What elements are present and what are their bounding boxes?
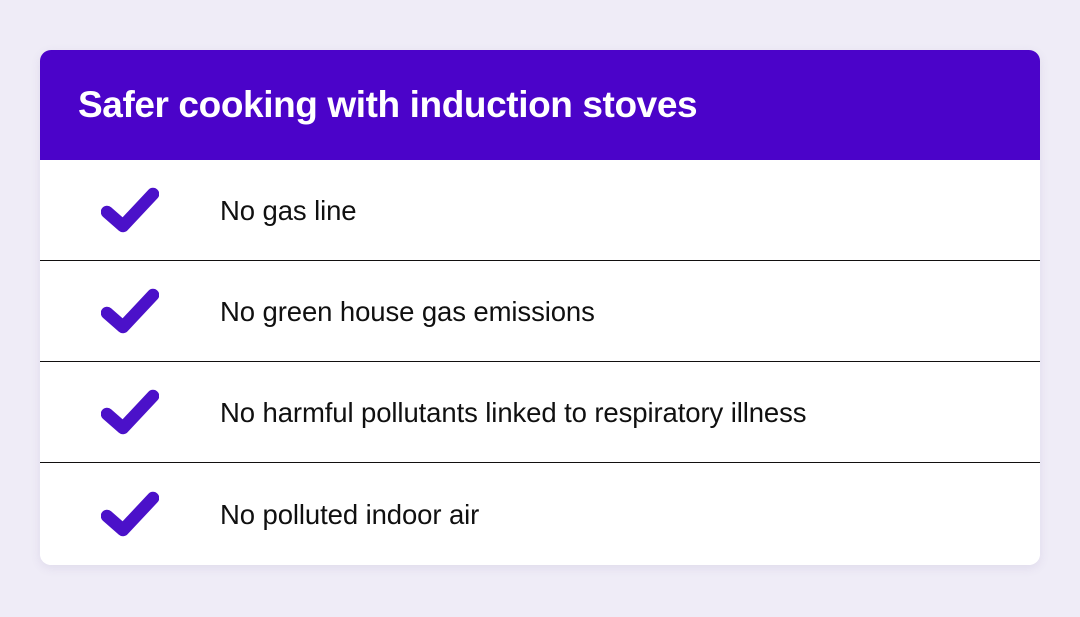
list-item-label: No gas line	[220, 194, 356, 227]
check-icon	[101, 187, 159, 233]
list-item-label: No harmful pollutants linked to respirat…	[220, 396, 806, 429]
page-root: Safer cooking with induction stoves No g…	[0, 0, 1080, 617]
list-item: No polluted indoor air	[40, 463, 1040, 565]
check-cell	[40, 389, 220, 435]
benefits-card: Safer cooking with induction stoves No g…	[40, 50, 1040, 565]
check-icon	[101, 491, 159, 537]
card-title: Safer cooking with induction stoves	[40, 85, 697, 126]
list-item: No green house gas emissions	[40, 261, 1040, 362]
check-cell	[40, 187, 220, 233]
list-item: No harmful pollutants linked to respirat…	[40, 362, 1040, 463]
check-cell	[40, 288, 220, 334]
card-header: Safer cooking with induction stoves	[40, 50, 1040, 160]
benefits-list: No gas line No green house gas emissions…	[40, 160, 1040, 565]
check-icon	[101, 288, 159, 334]
list-item-label: No polluted indoor air	[220, 498, 479, 531]
check-icon	[101, 389, 159, 435]
list-item-label: No green house gas emissions	[220, 295, 595, 328]
list-item: No gas line	[40, 160, 1040, 261]
check-cell	[40, 491, 220, 537]
